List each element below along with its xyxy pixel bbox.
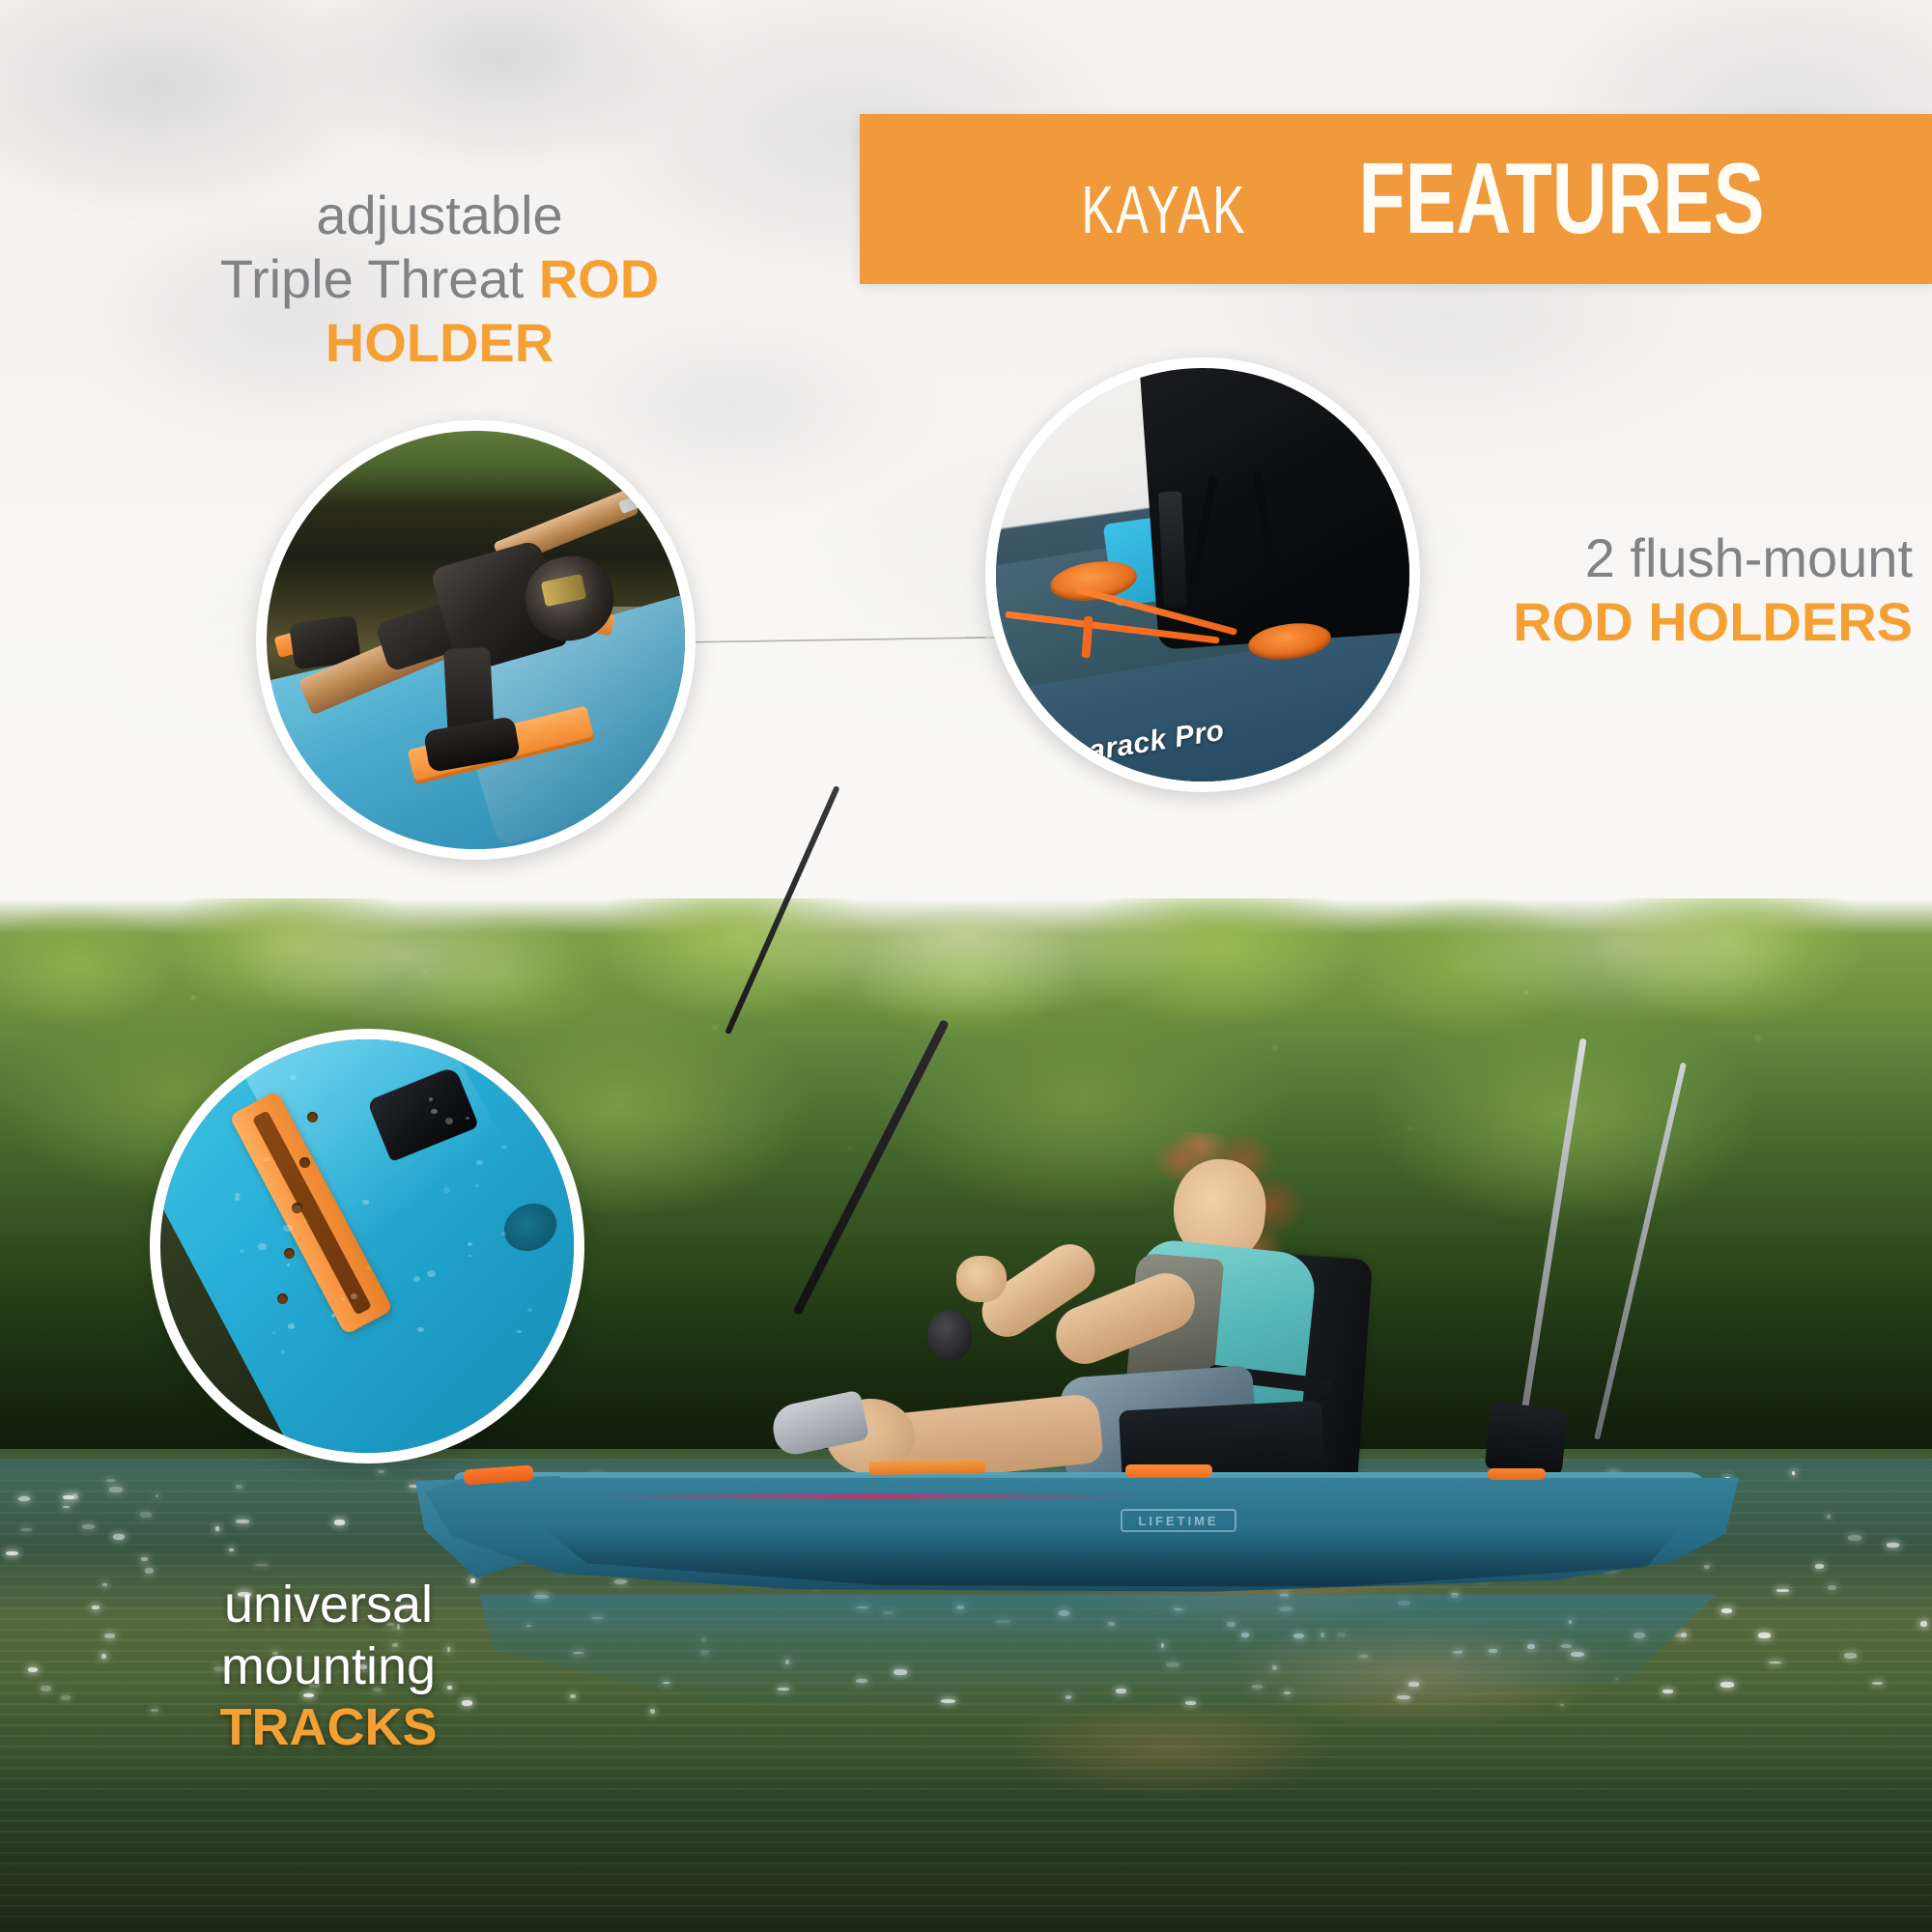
banner-word-features: FEATURES <box>1358 142 1764 257</box>
label-rod-holder: adjustable Triple Threat ROD HOLDER <box>145 184 734 375</box>
spinning-reel <box>927 1310 972 1360</box>
callout-circle-flush-mount-rod-holders[interactable]: marack Pro <box>985 357 1420 792</box>
fishing-rod-front <box>792 1019 949 1316</box>
label-rod-holder-line2-accent: ROD <box>539 248 659 309</box>
kayak-brand-plate: LIFETIME <box>1121 1509 1236 1532</box>
label-flush-mounts-line2: ROD HOLDERS <box>1430 590 1913 654</box>
label-rod-holder-line2-prefix: Triple Threat <box>220 248 539 309</box>
deck-orange-fitting-a <box>1125 1464 1212 1477</box>
label-mounting-tracks: universal mounting TRACKS <box>126 1575 531 1759</box>
label-mount-track-line3: TRACKS <box>126 1697 531 1759</box>
mounting-track-photo <box>160 1039 574 1453</box>
label-rod-holder-line1: adjustable <box>145 184 734 247</box>
label-flush-mounts-line1: 2 flush-mount <box>1430 526 1913 590</box>
callout-circle-mounting-track[interactable] <box>150 1029 584 1463</box>
angler-hand <box>956 1256 1007 1302</box>
callout-circle-rod-holder[interactable] <box>256 420 696 860</box>
label-rod-holder-line3: HOLDER <box>145 311 734 375</box>
rear-rod-holder-mount <box>1485 1402 1569 1477</box>
fishing-rod-rear-b <box>1594 1063 1687 1440</box>
label-mount-track-line2: mounting <box>126 1636 531 1698</box>
deck-mounting-track <box>869 1460 985 1475</box>
fishing-rod-rear-a <box>1517 1038 1587 1440</box>
banner-word-kayak: KAYAK <box>1081 171 1246 248</box>
deck-orange-fitting-b <box>1488 1468 1546 1480</box>
label-mount-track-line1: universal <box>126 1575 531 1636</box>
label-rod-holder-line2: Triple Threat ROD <box>145 247 734 311</box>
infographic-canvas: LIFETIME <box>0 0 1932 1932</box>
kayak-hull-stripe <box>599 1493 1140 1499</box>
rod-holder-photo <box>267 431 685 849</box>
fishing-rod-upper-segment <box>724 785 839 1035</box>
flush-mount-photo: marack Pro <box>996 368 1409 781</box>
label-flush-mount-rod-holders: 2 flush-mount ROD HOLDERS <box>1430 526 1932 654</box>
kayak-features-banner: KAYAK FEATURES <box>860 114 1932 284</box>
kayak-water-reflection <box>454 1594 1729 1719</box>
banner-title: KAYAK FEATURES <box>1049 142 1829 257</box>
